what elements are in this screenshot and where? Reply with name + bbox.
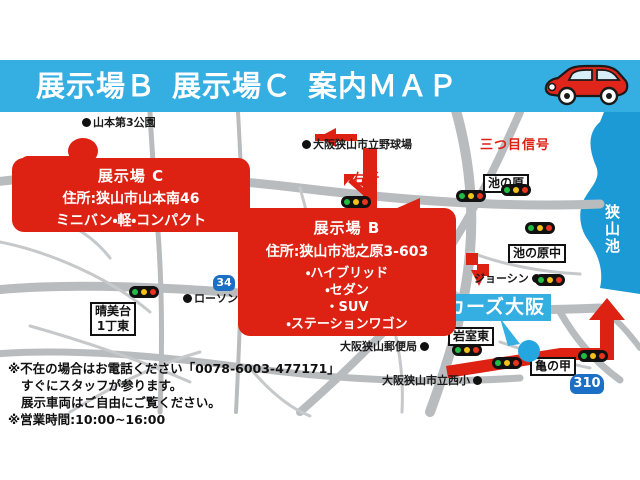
poi-dot-icon — [82, 118, 91, 127]
header-title-part2: 展示場Ｃ — [172, 69, 292, 103]
traffic-signal-icon — [535, 274, 565, 286]
route-shield-34: 34 — [213, 275, 235, 291]
callout-showroom-c[interactable]: 展示場 C 住所:狭山市山本南46 ミニバン・軽・コンパクト — [12, 158, 250, 232]
poi-dot-icon — [302, 140, 311, 149]
intersection-harumidai: 晴美台 1丁東 — [90, 302, 136, 336]
poi-post-office: 大阪狭山郵便局 — [340, 340, 429, 353]
traffic-signal-icon — [129, 286, 159, 298]
header-title-part1: 展示場Ｂ — [36, 69, 156, 103]
traffic-signal-icon — [501, 184, 531, 196]
footer-line-2: すぐにスタッフが参ります。 — [8, 377, 340, 394]
callout-b-item-1: ・セダン — [238, 282, 456, 299]
annotation-turn-right: 右折 — [352, 168, 380, 187]
poi-baseball-stadium: 大阪狭山市立野球場 — [302, 138, 412, 151]
route-shield-310: 310 — [570, 374, 604, 394]
lake-label: 狭 山 池 — [604, 204, 621, 255]
callout-b-title: 展示場 B — [238, 217, 456, 238]
dealer-location-dot — [518, 340, 540, 362]
traffic-signal-icon — [525, 222, 555, 234]
callout-showroom-b[interactable]: 展示場 B 住所:狭山市池之原3-603 ・ハイブリッド ・セダン ・SUV ・… — [238, 208, 456, 336]
map-flyer: 展示場Ｂ展示場Ｃ案内ＭＡＰ — [0, 0, 640, 480]
page-title: 展示場Ｂ展示場Ｃ案内ＭＡＰ — [36, 66, 458, 106]
poi-dot-icon — [183, 294, 192, 303]
poi-yamamoto-park: 山本第3公園 — [82, 116, 156, 129]
traffic-signal-icon — [456, 190, 486, 202]
footer-line-3: 展示車両はご自由にご覧ください。 — [8, 394, 340, 411]
poi-dot-icon — [420, 342, 429, 351]
callout-c-categories: ミニバン・軽・コンパクト — [12, 210, 250, 230]
header-title-part3: 案内ＭＡＰ — [308, 69, 458, 103]
dealer-label: カーズ大阪 — [440, 294, 551, 321]
intersection-ikenohara-naka: 池の原中 — [508, 244, 566, 263]
footer-line-1: ※不在の場合はお電話ください「0078-6003-477171」 — [8, 360, 340, 377]
traffic-signal-icon — [492, 357, 522, 369]
traffic-signal-icon — [578, 350, 608, 362]
poi-dot-icon — [473, 376, 482, 385]
callout-b-item-0: ・ハイブリッド — [238, 265, 456, 282]
footer-notes: ※不在の場合はお電話ください「0078-6003-477171」 すぐにスタッフ… — [8, 360, 340, 428]
callout-c-title: 展示場 C — [12, 165, 250, 186]
callout-c-address: 住所:狭山市山本南46 — [12, 188, 250, 208]
intersection-kamenoko: 亀の甲 — [530, 357, 576, 376]
callout-b-item-2: ・SUV — [238, 299, 456, 316]
annotation-third-signal: 三つ目信号 — [480, 134, 550, 153]
poi-joshin: ジョーシン — [474, 272, 541, 285]
callout-b-item-3: ・ステーションワゴン — [238, 316, 456, 333]
traffic-signal-icon — [452, 344, 482, 356]
poi-lawson: ローソン — [183, 292, 238, 305]
callout-b-address: 住所:狭山市池之原3-603 — [238, 241, 456, 261]
red-car-icon — [540, 62, 632, 110]
footer-line-4: ※営業時間:10:00~16:00 — [8, 411, 340, 428]
traffic-signal-icon — [341, 196, 371, 208]
poi-nishi-elementary: 大阪狭山市立西小 — [382, 374, 482, 387]
